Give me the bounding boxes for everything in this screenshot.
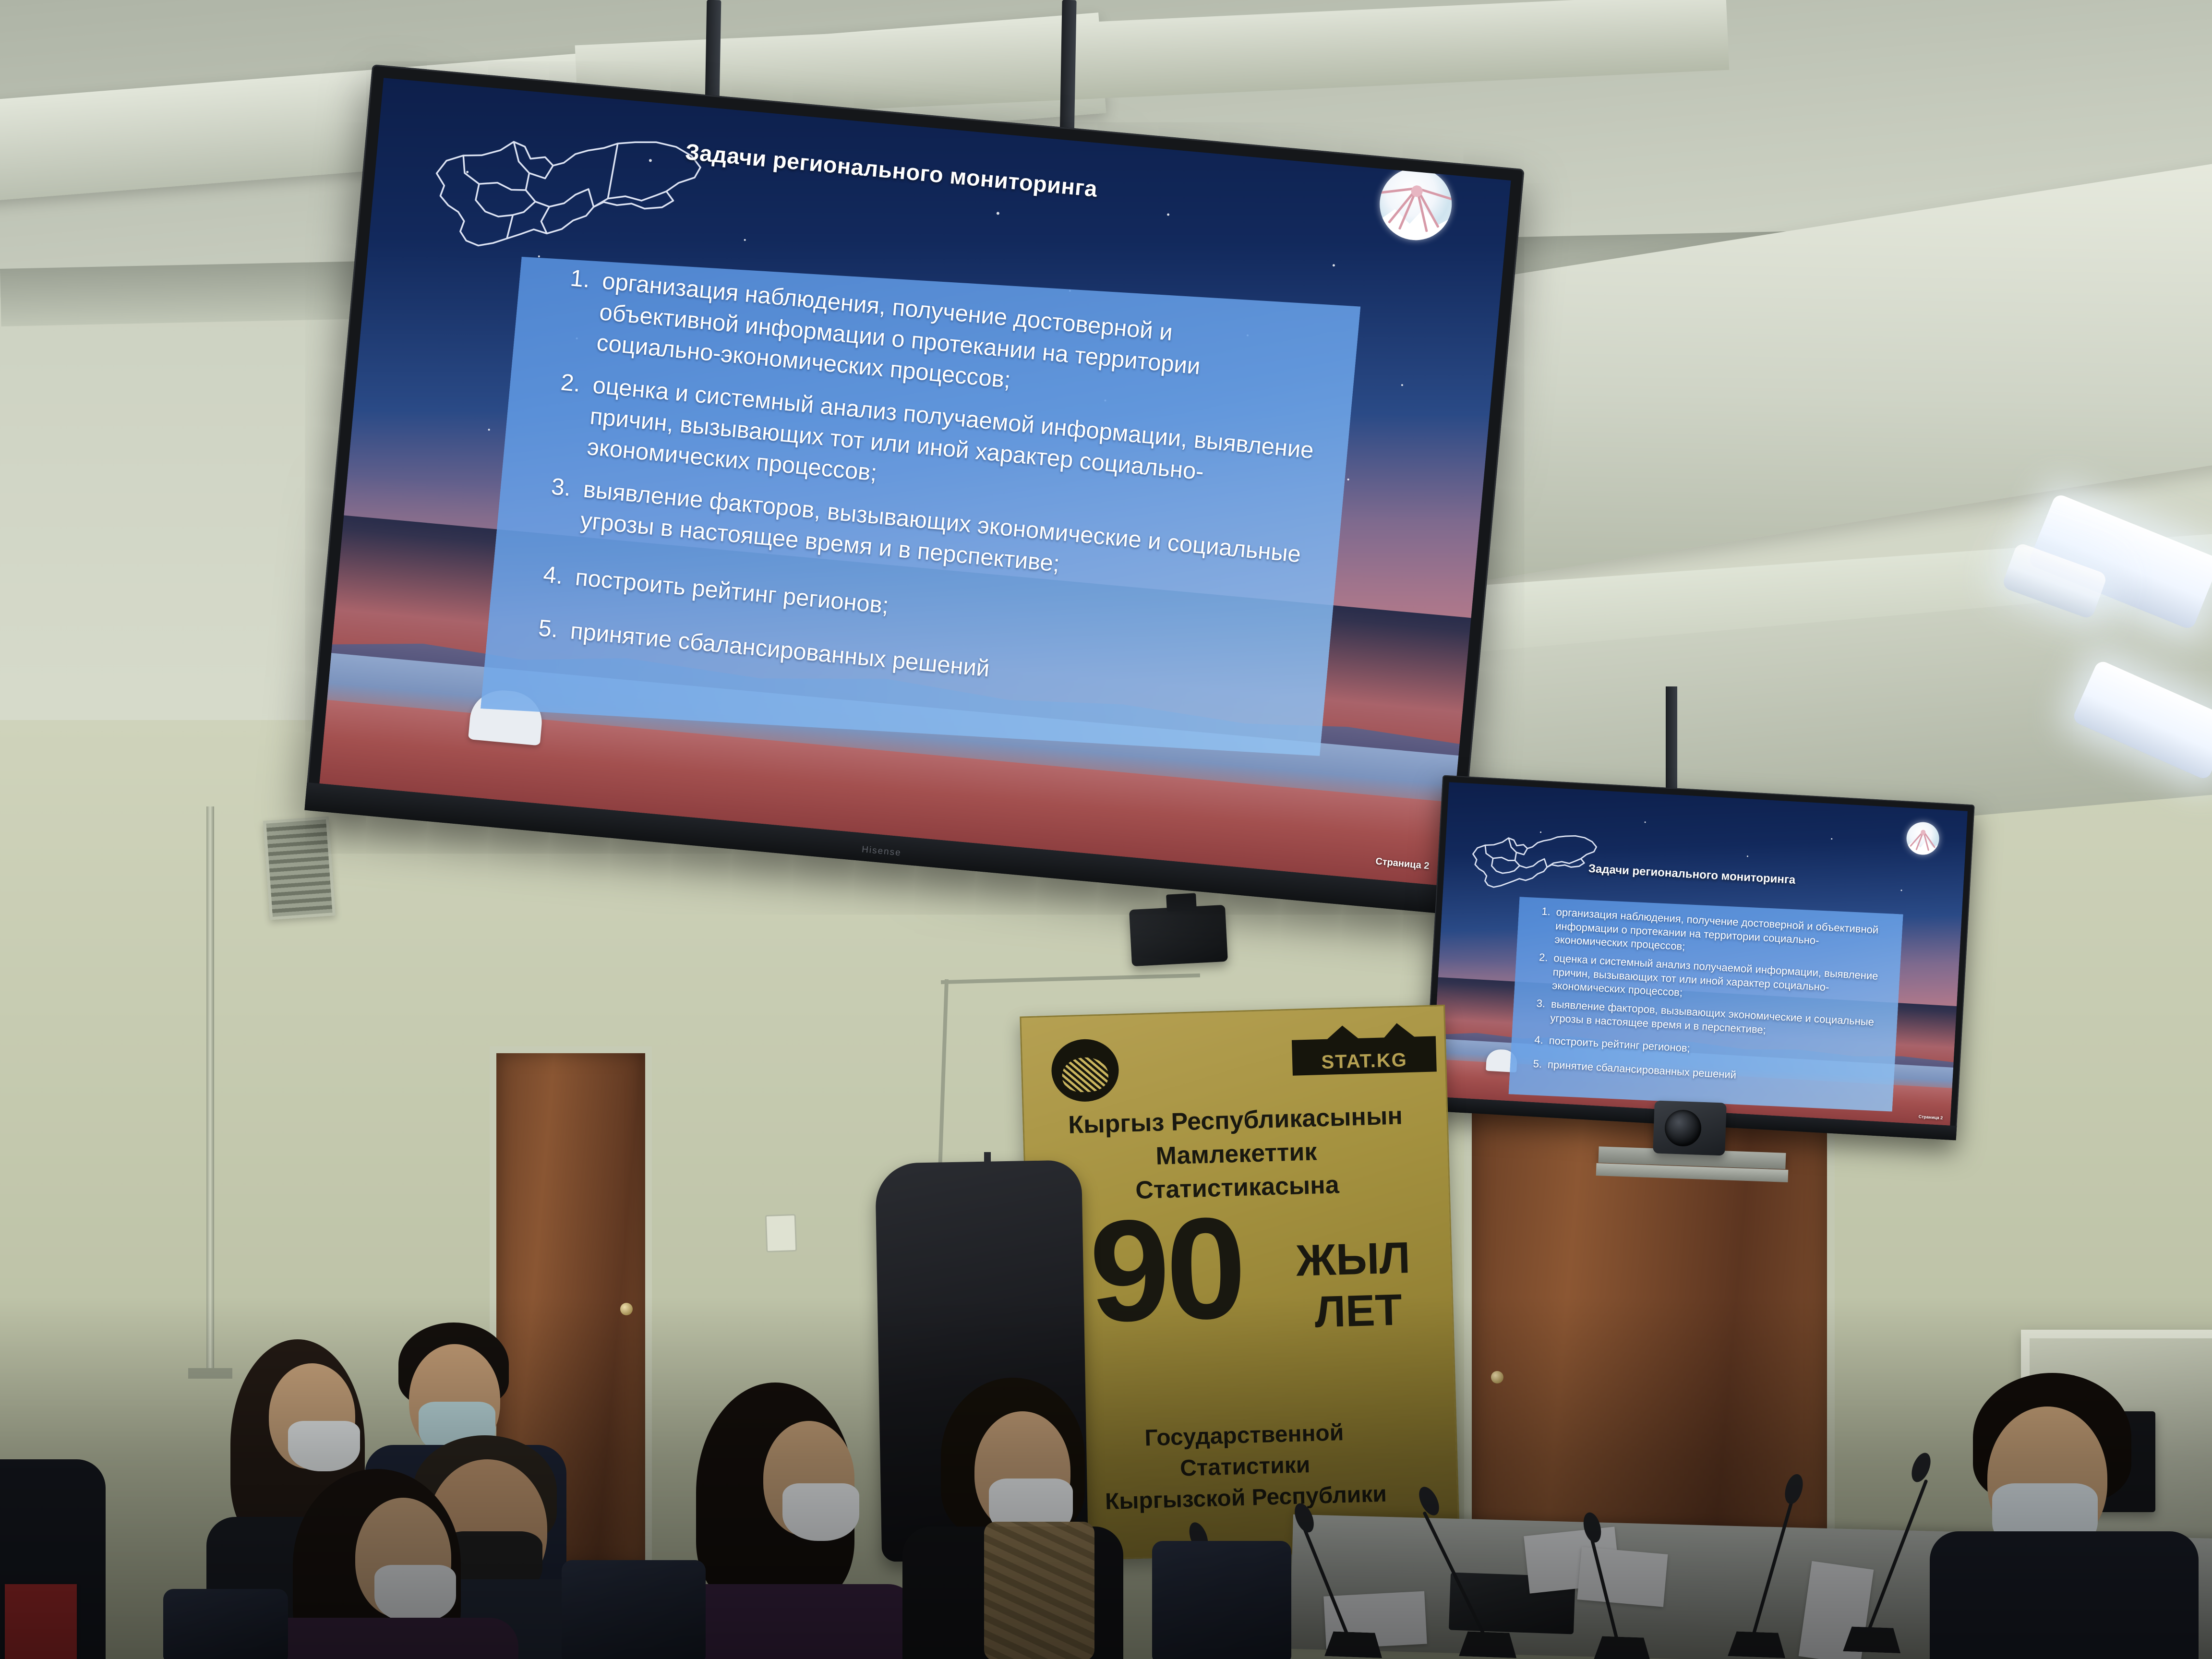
banner-anniversary-number: 90 xyxy=(1088,1204,1244,1335)
banner-line-2: Мамлекеттик xyxy=(1025,1134,1448,1175)
conference-room-photo: Задачи регионального мониторинга 1. орга… xyxy=(0,0,2212,1659)
banner-statkg-label: STAT.KG xyxy=(1292,1048,1437,1074)
kyrgyzstan-map-outline xyxy=(400,95,721,281)
presentation-slide-mirror: Задачи регионального мониторинга 1. орга… xyxy=(1431,782,1968,1125)
wall-speaker-device xyxy=(1129,905,1228,966)
bullet-number: 1. xyxy=(542,261,604,358)
main-display-brand-label: Hisense xyxy=(861,844,902,858)
bullet-number: 4. xyxy=(1524,1033,1550,1047)
slide-bullet-panel: 1. организация наблюдения, получение дос… xyxy=(1509,893,1903,1116)
chair xyxy=(562,1560,706,1659)
banner-logo-icon xyxy=(1051,1038,1120,1103)
statkg-logo-icon xyxy=(1377,165,1455,243)
logo-tunduk-rays xyxy=(1377,165,1455,243)
bullet-number: 5. xyxy=(516,611,572,647)
microphone-base xyxy=(1593,1636,1652,1659)
second-display-mount-arm xyxy=(1666,686,1677,802)
kyrgyzstan-map-outline xyxy=(1457,817,1605,901)
microphone-base xyxy=(1843,1626,1901,1653)
paper-sheet xyxy=(1577,1547,1668,1607)
chair xyxy=(163,1589,288,1659)
banner-line-5: Статистики xyxy=(1034,1448,1456,1486)
tv-mount-arm xyxy=(1059,0,1076,144)
banner-line-4: Государственной xyxy=(1033,1417,1455,1455)
wall-speaker-bracket xyxy=(1166,893,1197,912)
second-display[interactable]: Задачи регионального мониторинга 1. орга… xyxy=(1424,775,1974,1141)
main-display-screen: Задачи регионального мониторинга 1. орга… xyxy=(319,78,1511,886)
microphone-base xyxy=(1728,1631,1786,1658)
door-knob[interactable] xyxy=(1491,1371,1503,1383)
door-knob[interactable] xyxy=(620,1303,633,1315)
slide-bullet-panel: 1. организация наблюдения, получение дос… xyxy=(481,230,1360,784)
floor-stand-pole xyxy=(206,806,214,1373)
bullet-number: 3. xyxy=(1525,996,1551,1025)
second-display-screen: Задачи регионального мониторинга 1. орга… xyxy=(1431,782,1968,1125)
microphone-base xyxy=(1459,1631,1517,1658)
main-display[interactable]: Задачи регионального мониторинга 1. орга… xyxy=(304,64,1524,915)
presentation-slide: Задачи регионального мониторинга 1. орга… xyxy=(319,78,1511,886)
statkg-logo-icon xyxy=(1906,821,1940,856)
scarf xyxy=(984,1522,1094,1659)
bullet-number: 1. xyxy=(1529,904,1557,947)
bullet-number: 2. xyxy=(532,365,594,462)
banner-line-1: Кыргыз Республикасынын xyxy=(1024,1100,1447,1141)
light-switch[interactable] xyxy=(765,1214,797,1252)
floor-stand-base xyxy=(188,1368,232,1379)
banner-word-russian: ЛЕТ xyxy=(1314,1285,1403,1338)
microphone-base xyxy=(1324,1631,1383,1658)
bullet-number: 2. xyxy=(1527,950,1554,993)
banner-logo-inner xyxy=(1062,1057,1109,1093)
banner-word-kyrgyz: ЖЫЛ xyxy=(1296,1233,1411,1286)
banner-statkg-block: STAT.KG xyxy=(1292,1036,1437,1075)
chair xyxy=(1152,1541,1291,1659)
red-folder xyxy=(5,1584,77,1659)
bullet-number: 4. xyxy=(520,557,577,593)
bullet-number: 3. xyxy=(526,469,585,536)
bullet-number: 5. xyxy=(1522,1057,1548,1071)
logo-tunduk-rays xyxy=(1906,821,1940,856)
wall-vent xyxy=(263,816,336,920)
banner-line-6: Кыргызской Республики xyxy=(1034,1479,1457,1517)
